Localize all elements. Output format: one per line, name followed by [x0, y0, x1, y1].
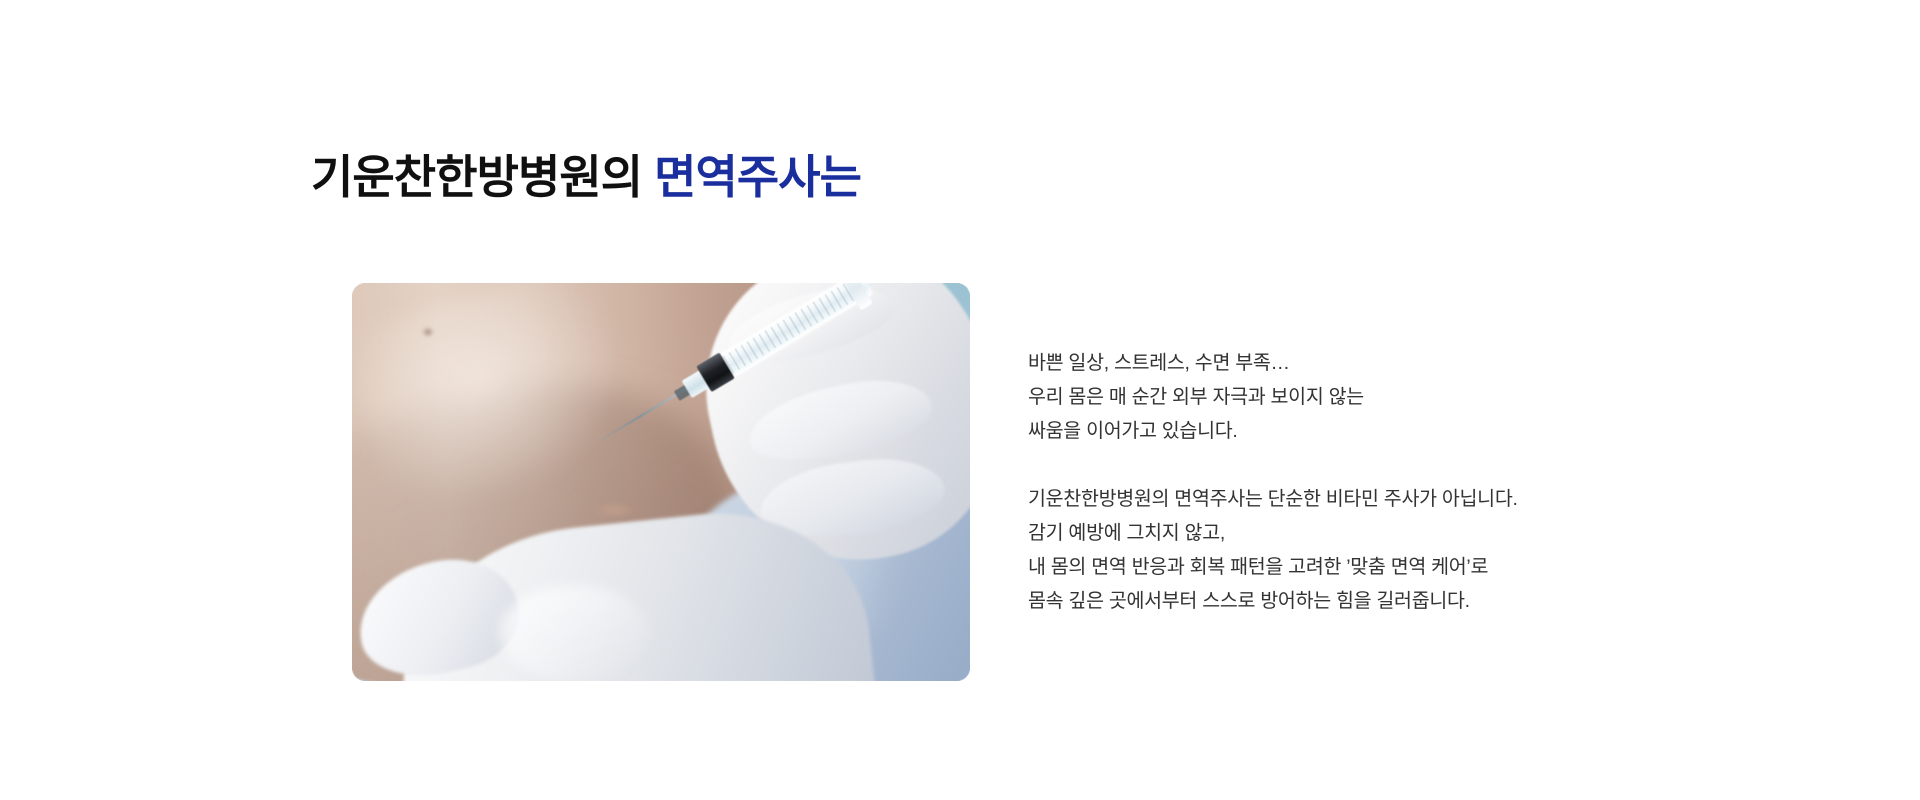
copy-line: 내 몸의 면역 반응과 회복 패턴을 고려한 ’맞춤 면역 케어’로: [1028, 550, 1588, 584]
copy-paragraph-intro: 바쁜 일상, 스트레스, 수면 부족… 우리 몸은 매 순간 외부 자극과 보이…: [1028, 346, 1588, 448]
copy-line: 싸움을 이어가고 있습니다.: [1028, 414, 1588, 448]
copy-line: 우리 몸은 매 순간 외부 자극과 보이지 않는: [1028, 380, 1588, 414]
copy-line: 기운찬한방병원의 면역주사는 단순한 비타민 주사가 아닙니다.: [1028, 482, 1588, 516]
injection-photo: [352, 283, 970, 681]
body-copy: 바쁜 일상, 스트레스, 수면 부족… 우리 몸은 매 순간 외부 자극과 보이…: [1028, 326, 1588, 637]
page-title-lead: 기운찬한방병원의: [311, 151, 654, 203]
injection-site: [593, 502, 636, 518]
page-title-accent: 면역주사는: [654, 151, 861, 203]
copy-paragraph-detail: 기운찬한방병원의 면역주사는 단순한 비타민 주사가 아닙니다. 감기 예방에 …: [1028, 482, 1588, 618]
glove-knuckle-highlight: [500, 585, 648, 681]
copy-line: 감기 예방에 그치지 않고,: [1028, 516, 1588, 550]
copy-line: 바쁜 일상, 스트레스, 수면 부족…: [1028, 346, 1588, 380]
patient-arm-mole: [424, 329, 432, 335]
copy-line: 몸속 깊은 곳에서부터 스스로 방어하는 힘을 길러줍니다.: [1028, 584, 1588, 618]
page-title: 기운찬한방병원의 면역주사는: [311, 149, 861, 207]
injection-photo-canvas: [352, 283, 970, 681]
promo-section: 기운찬한방병원의 면역주사는: [0, 0, 1920, 800]
